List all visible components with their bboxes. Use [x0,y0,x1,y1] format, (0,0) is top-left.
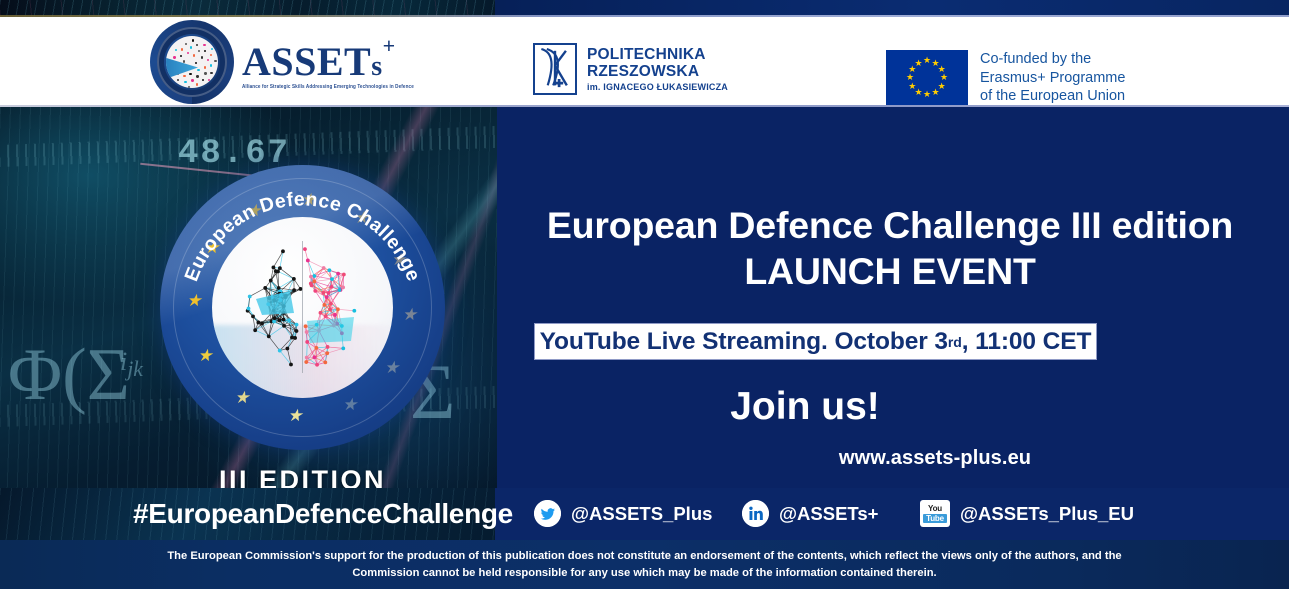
politechnika-line3: im. IGNACEGO ŁUKASIEWICZA [587,82,728,92]
eu-flag-icon: ★★★★★★★★★★★★ [886,50,968,105]
social-bar: #EuropeanDefenceChallenge @ASSETS_Plus @… [0,488,1289,540]
join-us-callout: Join us! [505,385,1105,429]
page-title: European Defence Challenge III edition L… [505,203,1275,295]
politechnika-line1: POLITECHNIKA [587,46,728,63]
stream-info-box: YouTube Live Streaming. October 3rd, 11:… [534,323,1097,360]
eu-text-line1: Co-funded by the [980,50,1125,69]
stream-ordinal: rd [948,334,962,350]
partner-logo-band: ASSETs+ Alliance for Strategic Skills Ad… [0,17,1289,107]
edition-number: III EDITION [160,465,445,488]
edition-caption: III EDITION 2022-2023 [160,465,445,488]
linkedin-icon [742,500,769,527]
eu-cofunding-logo: ★★★★★★★★★★★★ Co-funded by the Erasmus+ P… [886,50,1125,106]
poster-canvas: ASSETs+ Alliance for Strategic Skills Ad… [0,0,1289,589]
twitter-handle-label: @ASSETS_Plus [571,503,712,525]
politechnika-emblem-icon [533,43,577,95]
linkedin-handle-label: @ASSETs+ [779,503,878,525]
headline-line-2: LAUNCH EVENT [505,249,1275,295]
website-url[interactable]: www.assets-plus.eu [700,447,1170,470]
youtube-handle-label: @ASSETs_Plus_EU [960,503,1134,525]
eu-disclaimer-band: The European Commission's support for th… [0,540,1289,589]
headline-line-1: European Defence Challenge III edition [505,203,1275,249]
twitter-icon [534,500,561,527]
european-defence-challenge-badge: ★★★★★★★★★★★★ European Defence Challenge [160,165,445,450]
politechnika-rzeszowska-logo: POLITECHNIKA RZESZOWSKA im. IGNACEGO ŁUK… [533,43,728,95]
stream-suffix: , 11:00 CET [962,328,1092,356]
top-accent-strip [0,0,1289,17]
stream-prefix: YouTube Live Streaming. October 3 [540,328,948,356]
badge-inner-disc [212,217,393,398]
disclaimer-text: The European Commission's support for th… [165,548,1125,582]
politechnika-line2: RZESZOWSKA [587,63,728,80]
youtube-handle-item[interactable]: You Tube @ASSETs_Plus_EU [920,500,1134,527]
youtube-icon-word2: Tube [923,514,947,523]
linkedin-handle-item[interactable]: @ASSETs+ [742,500,878,527]
assets-plus-tagline: Alliance for Strategic Skills Addressing… [242,83,414,89]
hero-section: 48.67 ijk Φ(Σ Σ ★★★★★★★★★★★★ European De… [0,107,1289,488]
assets-plus-logo: ASSETs+ Alliance for Strategic Skills Ad… [150,19,414,105]
youtube-icon-word1: You [928,505,942,513]
campaign-hashtag: #EuropeanDefenceChallenge [133,498,513,530]
eu-text-line2: Erasmus+ Programme [980,69,1125,88]
hero-navy-panel [495,107,1289,488]
assets-plus-emblem-icon [150,20,234,104]
assets-word-plus: + [383,33,396,58]
assets-plus-wordmark: ASSETs+ Alliance for Strategic Skills Ad… [242,36,414,88]
assets-word-small: s [371,51,382,82]
eu-text-line3: of the European Union [980,87,1125,106]
background-formula-2: Φ(Σ [8,333,130,418]
youtube-icon: You Tube [920,500,950,527]
brain-network-icon [212,217,393,398]
twitter-handle-item[interactable]: @ASSETS_Plus [534,500,712,527]
assets-word-main: ASSET [242,39,371,84]
